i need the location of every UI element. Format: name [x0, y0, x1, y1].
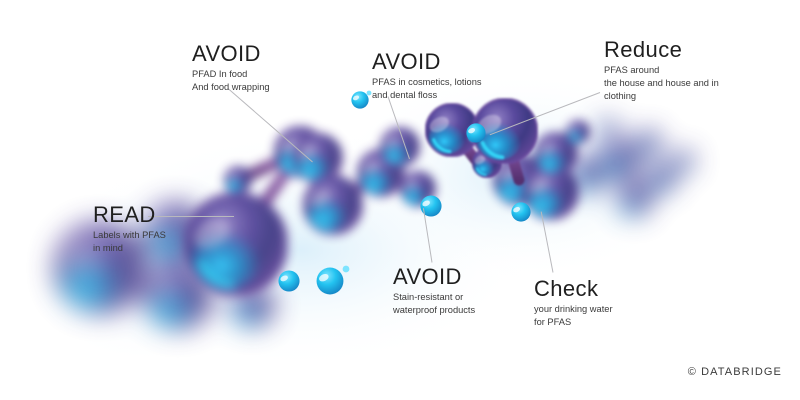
callout-line: And food wrapping — [192, 81, 270, 94]
callout-line: for PFAS — [534, 316, 613, 329]
callout-line: your drinking water — [534, 303, 613, 316]
callout-heading: AVOID — [393, 265, 475, 288]
callout-description: Labels with PFASin mind — [93, 229, 166, 255]
callout-line: PFAD In food — [192, 68, 270, 81]
callout-line: Stain-resistant or — [393, 291, 475, 304]
callout-heading: Check — [534, 277, 613, 300]
callout-heading: AVOID — [192, 42, 270, 65]
callout-heading: Reduce — [604, 38, 719, 61]
copyright-credit: © DATABRIDGE — [688, 366, 782, 378]
callout-read: READLabels with PFASin mind — [93, 203, 166, 255]
callout-avoid-cosmetics: AVOIDPFAS in cosmetics, lotionsand denta… — [372, 50, 482, 102]
callout-line: the house and house and in — [604, 77, 719, 90]
callout-avoid-stain: AVOIDStain-resistant orwaterproof produc… — [393, 265, 475, 317]
callout-description: your drinking waterfor PFAS — [534, 303, 613, 329]
callout-reduce: ReducePFAS aroundthe house and house and… — [604, 38, 719, 104]
callout-line: in mind — [93, 242, 166, 255]
callout-line: and dental floss — [372, 89, 482, 102]
callout-avoid-food: AVOIDPFAD In foodAnd food wrapping — [192, 42, 270, 94]
callout-heading: READ — [93, 203, 166, 226]
callout-line: PFAS around — [604, 64, 719, 77]
callout-check-water: Checkyour drinking waterfor PFAS — [534, 277, 613, 329]
callout-description: PFAS aroundthe house and house and inclo… — [604, 64, 719, 104]
callout-heading: AVOID — [372, 50, 482, 73]
callout-line: clothing — [604, 90, 719, 103]
callout-line: Labels with PFAS — [93, 229, 166, 242]
callout-description: Stain-resistant orwaterproof products — [393, 291, 475, 317]
callout-line: PFAS in cosmetics, lotions — [372, 76, 482, 89]
callout-description: PFAD In foodAnd food wrapping — [192, 68, 270, 94]
infographic-canvas: READLabels with PFASin mindAVOIDPFAD In … — [0, 0, 800, 400]
callout-description: PFAS in cosmetics, lotionsand dental flo… — [372, 76, 482, 102]
callout-line: waterproof products — [393, 304, 475, 317]
